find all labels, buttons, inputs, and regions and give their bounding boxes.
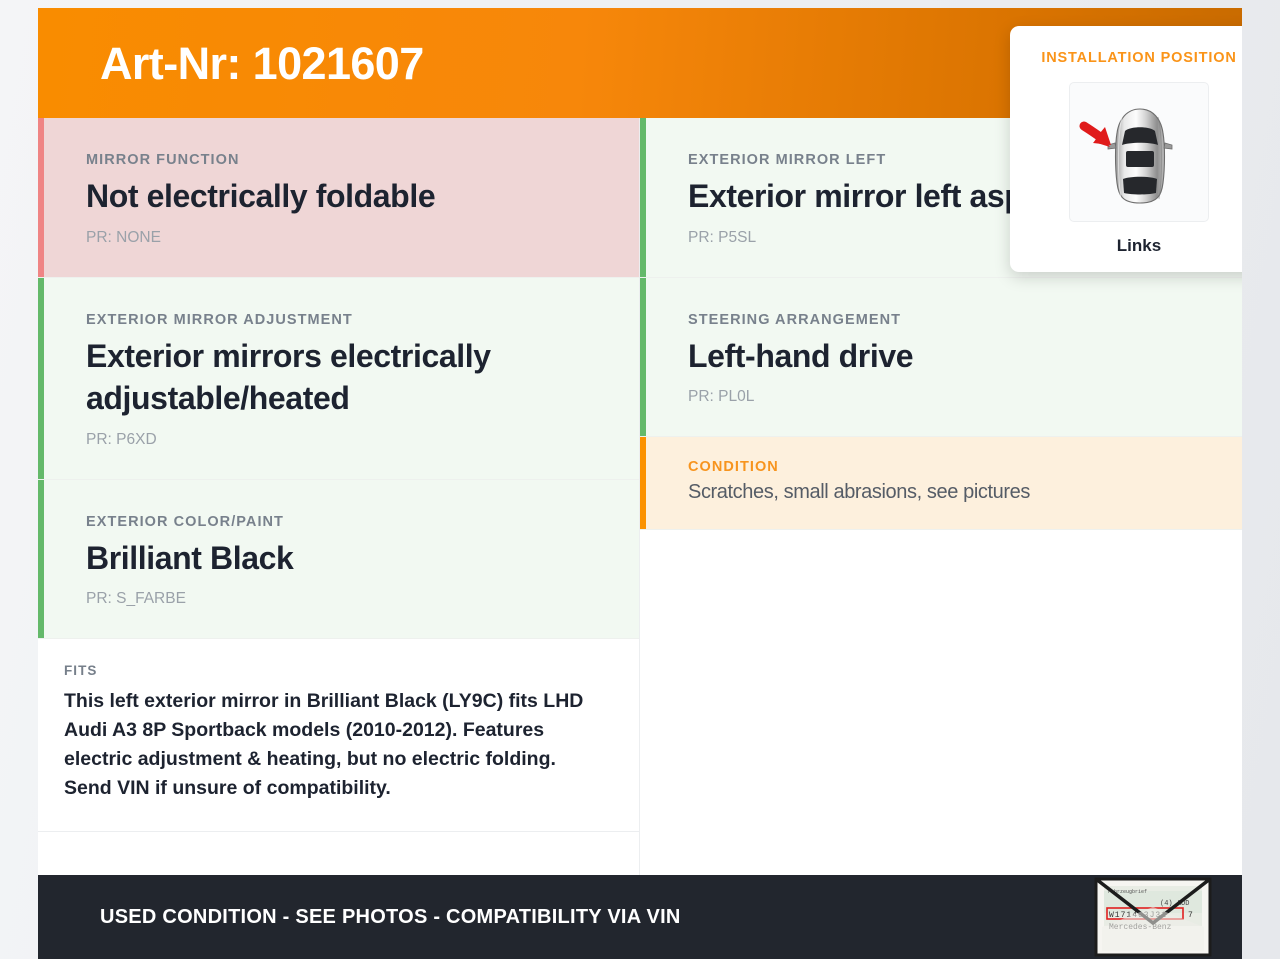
red-arrow-icon [1084,123,1111,147]
installation-position-card[interactable]: INSTALLATION POSITION [1010,26,1242,272]
spec-pr-code: PR: PL0L [688,388,1196,406]
spec-card-mirror-function: MIRROR FUNCTION Not electrically foldabl… [38,118,639,278]
product-detail-page: Art-Nr: 1021607 INSTALLATION POSITION [38,8,1242,959]
spec-card-exterior-color: EXTERIOR COLOR/PAINT Brilliant Black PR:… [38,480,639,640]
footer-notice: USED CONDITION - SEE PHOTOS - COMPATIBIL… [100,906,681,929]
spec-pr-code: PR: S_FARBE [86,590,593,608]
spec-pr-code: PR: NONE [86,229,593,247]
svg-text:7: 7 [1188,911,1193,920]
spec-label: MIRROR FUNCTION [86,152,593,168]
installation-position-side: Links [1010,236,1242,256]
left-column-filler [38,832,639,875]
spec-value: Not electrically foldable [86,175,593,218]
spec-value: Scratches, small abrasions, see pictures [688,479,1196,505]
spec-label: CONDITION [688,459,1196,475]
fits-section: FITS This left exterior mirror in Brilli… [38,639,639,831]
installation-position-title: INSTALLATION POSITION [1010,50,1242,66]
article-number: Art-Nr: 1021607 [100,41,424,86]
spec-pr-code: PR: P6XD [86,431,593,449]
right-column-filler [640,530,1242,875]
fits-description: This left exterior mirror in Brilliant B… [64,687,589,802]
page-footer: USED CONDITION - SEE PHOTOS - COMPATIBIL… [38,875,1242,959]
spec-label: EXTERIOR COLOR/PAINT [86,514,593,530]
spec-label: EXTERIOR MIRROR ADJUSTMENT [86,312,593,328]
spec-card-exterior-mirror-adjustment: EXTERIOR MIRROR ADJUSTMENT Exterior mirr… [38,278,639,480]
spec-value: Exterior mirrors electrically adjustable… [86,335,593,420]
spec-card-steering-arrangement: STEERING ARRANGEMENT Left-hand drive PR:… [640,278,1242,438]
spec-card-condition: CONDITION Scratches, small abrasions, se… [640,437,1242,530]
fits-label: FITS [64,663,589,678]
spec-label: STEERING ARRANGEMENT [688,312,1196,328]
spec-value: Left-hand drive [688,335,1196,378]
envelope-vin-document-icon: Fahrzeugbrief (4) AUD W171463J31 7 Merce… [1094,877,1212,957]
spec-column-left: MIRROR FUNCTION Not electrically foldabl… [38,118,640,875]
car-diagram [1069,82,1209,222]
car-top-view-icon [1070,83,1210,223]
spec-value: Brilliant Black [86,537,593,580]
